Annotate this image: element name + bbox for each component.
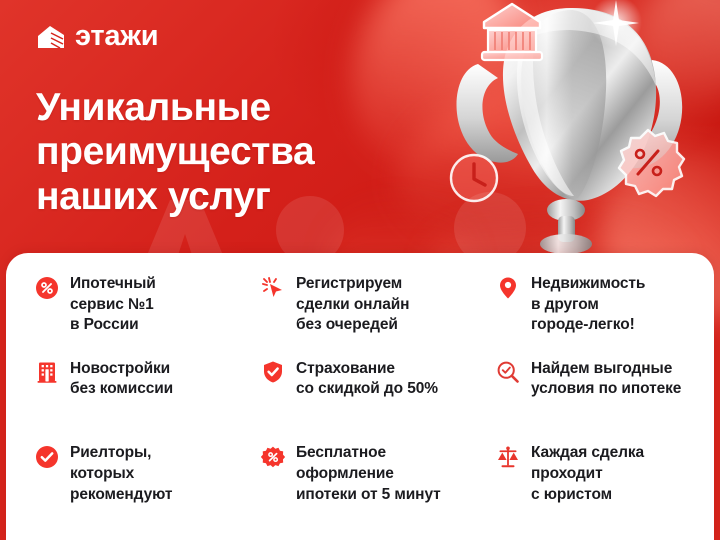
feature-label: Недвижимость в другом городе-легко! [531, 274, 645, 336]
feature-line: сервис №1 [70, 295, 156, 316]
feature-line: городе-легко! [531, 315, 645, 336]
headline-line-2: преимущества [36, 130, 314, 174]
promo-banner: этажи Уникальные преимущества наших услу… [0, 0, 720, 540]
feature-line: Каждая сделка [531, 443, 644, 464]
feature-item: Найдем выгодные условия по ипотеке [495, 359, 720, 444]
feature-line: Бесплатное [296, 443, 441, 464]
building-roof-icon [36, 24, 66, 50]
features-grid: Ипотечный сервис №1 в России [6, 253, 714, 540]
search-check-icon [495, 360, 520, 385]
feature-line: оформление [296, 464, 441, 485]
trophy-3d-illustration [420, 0, 720, 264]
feature-label: Новостройки без комиссии [70, 359, 173, 400]
feature-line: Регистрируем [296, 274, 409, 295]
percent-circle-icon [34, 275, 59, 300]
feature-label: Страхование со скидкой до 50% [296, 359, 438, 400]
feature-line: в России [70, 315, 156, 336]
feature-label: Бесплатное оформление ипотеки от 5 минут [296, 443, 441, 505]
trophy-base [540, 234, 592, 254]
feature-item: Новостройки без комиссии [34, 359, 260, 444]
headline-line-1: Уникальные [36, 86, 314, 130]
feature-line: Найдем выгодные [531, 359, 681, 380]
cursor-click-icon [260, 275, 285, 300]
bank-building-icon [482, 4, 542, 60]
feature-label: Каждая сделка проходит с юристом [531, 443, 644, 505]
feature-item: Регистрируем сделки онлайн без очередей [260, 274, 495, 359]
brand-name: этажи [75, 22, 158, 51]
percent-starburst-icon [260, 444, 285, 469]
feature-line: с юристом [531, 485, 644, 506]
scales-justice-icon [495, 444, 520, 469]
feature-line: в другом [531, 295, 645, 316]
shield-check-icon [260, 360, 285, 385]
feature-line: со скидкой до 50% [296, 379, 438, 400]
feature-line: без комиссии [70, 379, 173, 400]
brand-logo: этажи [36, 22, 158, 51]
feature-line: Ипотечный [70, 274, 156, 295]
feature-line: которых [70, 464, 172, 485]
building-icon [34, 360, 59, 385]
feature-item: Бесплатное оформление ипотеки от 5 минут [260, 443, 495, 528]
feature-line: ипотеки от 5 минут [296, 485, 441, 506]
location-pin-icon [495, 275, 520, 300]
feature-label: Найдем выгодные условия по ипотеке [531, 359, 681, 400]
feature-line: проходит [531, 464, 644, 485]
trophy-svg [420, 0, 720, 264]
feature-line: рекомендуют [70, 485, 172, 506]
feature-line: без очередей [296, 315, 409, 336]
feature-line: Новостройки [70, 359, 173, 380]
feature-item: Риелторы, которых рекомендуют [34, 443, 260, 528]
clock-icon [451, 155, 497, 201]
feature-item: Ипотечный сервис №1 в России [34, 274, 260, 359]
feature-label: Ипотечный сервис №1 в России [70, 274, 156, 336]
feature-item: Каждая сделка проходит с юристом [495, 443, 720, 528]
headline-line-3: наших услуг [36, 175, 314, 219]
feature-item: Недвижимость в другом городе-легко! [495, 274, 720, 359]
features-card: Ипотечный сервис №1 в России [6, 253, 714, 540]
feature-line: условия по ипотеке [531, 379, 681, 400]
feature-label: Регистрируем сделки онлайн без очередей [296, 274, 409, 336]
feature-line: Риелторы, [70, 443, 172, 464]
feature-line: Страхование [296, 359, 438, 380]
feature-label: Риелторы, которых рекомендуют [70, 443, 172, 505]
check-circle-icon [34, 444, 59, 469]
feature-item: Страхование со скидкой до 50% [260, 359, 495, 444]
page-title: Уникальные преимущества наших услуг [36, 86, 314, 219]
feature-line: Недвижимость [531, 274, 645, 295]
feature-line: сделки онлайн [296, 295, 409, 316]
